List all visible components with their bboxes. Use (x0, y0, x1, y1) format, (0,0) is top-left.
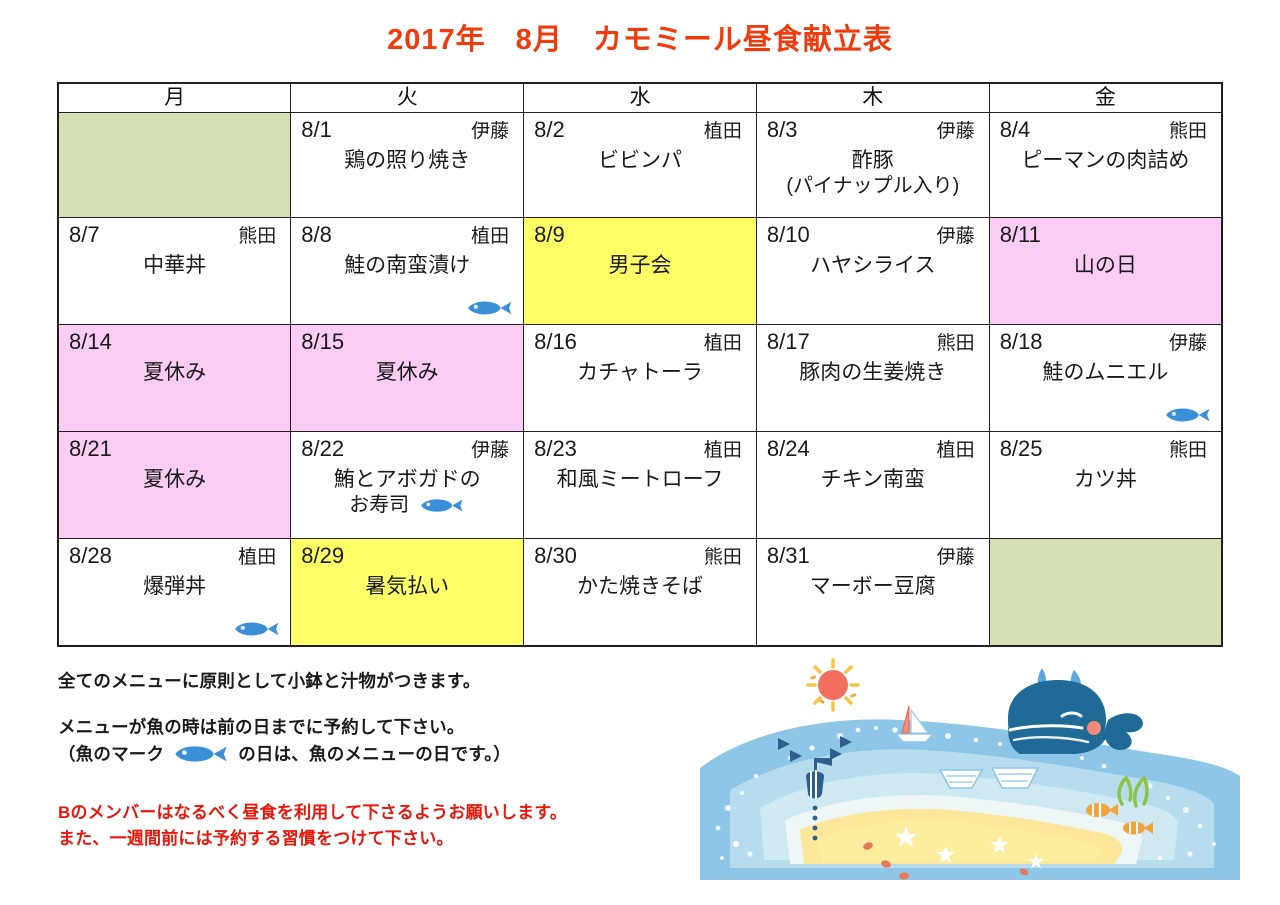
calendar-cell-content: 8/3伊藤酢豚(パイナップル入り) (757, 113, 989, 217)
fish-mark-icon (465, 298, 513, 318)
calendar-cell-header: 8/31伊藤 (767, 543, 979, 569)
calendar-cell-content: 8/30熊田かた焼きそば (524, 539, 756, 645)
calendar-cell-header: 8/30熊田 (534, 543, 746, 569)
calendar-cell-menu: 男子会 (534, 253, 746, 279)
calendar-cell-date: 8/23 (534, 436, 577, 462)
calendar-week-row: 8/1伊藤鶏の照り焼き8/2植田ビビンパ8/3伊藤酢豚(パイナップル入り)8/4… (58, 113, 1222, 218)
calendar-cell-header: 8/10伊藤 (767, 222, 979, 248)
fish-mark-icon (232, 619, 280, 639)
weekday-header-thu: 木 (756, 83, 989, 113)
calendar-cell-content: 8/22伊藤鮪とアボガドのお寿司 (291, 432, 523, 538)
calendar-cell-menu: 夏休み (69, 467, 280, 493)
calendar-cell-content: 8/2植田ビビンパ (524, 113, 756, 217)
calendar-cell[interactable]: 8/18伊藤鮭のムニエル (989, 325, 1222, 432)
calendar-cell[interactable]: 8/21夏休み (58, 432, 291, 539)
calendar-cell-menu: ハヤシライス (767, 253, 979, 279)
calendar-cell-menu: ピーマンの肉詰め (1000, 148, 1211, 174)
calendar-cell-content: 8/23植田和風ミートローフ (524, 432, 756, 538)
calendar-cell-content: 8/24植田チキン南蛮 (757, 432, 989, 538)
calendar-cell-content: 8/15夏休み (291, 325, 523, 431)
calendar-cell-date: 8/8 (301, 222, 332, 248)
sun-icon (808, 660, 858, 710)
calendar-cell-menu: 和風ミートローフ (534, 467, 746, 493)
calendar-cell-date: 8/9 (534, 222, 565, 248)
menu-calendar: 月 火 水 木 金 8/1伊藤鶏の照り焼き8/2植田ビビンパ8/3伊藤酢豚(パイ… (57, 82, 1223, 647)
fish-mark-icon (1163, 405, 1211, 425)
calendar-cell[interactable]: 8/15夏休み (291, 325, 524, 432)
calendar-cell-date: 8/31 (767, 543, 810, 569)
calendar-cell-staff: 熊田 (937, 333, 979, 355)
calendar-cell-date: 8/3 (767, 117, 798, 143)
calendar-cell-menu: 豚肉の生姜焼き (767, 360, 979, 386)
calendar-cell-content: 8/29暑気払い (291, 539, 523, 645)
calendar-cell[interactable]: 8/11山の日 (989, 218, 1222, 325)
weekday-header-wed: 水 (524, 83, 757, 113)
calendar-cell-date: 8/29 (301, 543, 344, 569)
calendar-table: 月 火 水 木 金 8/1伊藤鶏の照り焼き8/2植田ビビンパ8/3伊藤酢豚(パイ… (57, 82, 1223, 647)
calendar-cell[interactable]: 8/22伊藤鮪とアボガドのお寿司 (291, 432, 524, 539)
calendar-cell-header: 8/23植田 (534, 436, 746, 462)
calendar-cell-empty[interactable] (989, 539, 1222, 647)
calendar-body: 8/1伊藤鶏の照り焼き8/2植田ビビンパ8/3伊藤酢豚(パイナップル入り)8/4… (58, 113, 1222, 647)
calendar-cell-menu: チキン南蛮 (767, 467, 979, 493)
calendar-cell-content: 8/9男子会 (524, 218, 756, 324)
calendar-cell-empty[interactable] (58, 113, 291, 218)
calendar-cell-header: 8/28植田 (69, 543, 280, 569)
calendar-cell-content: 8/18伊藤鮭のムニエル (990, 325, 1221, 431)
calendar-cell-staff: 植田 (704, 121, 746, 143)
calendar-cell-menu-sub: (パイナップル入り) (767, 174, 979, 198)
calendar-cell-date: 8/28 (69, 543, 112, 569)
calendar-cell-header: 8/29 (301, 543, 513, 569)
note-red-line-1: Bのメンバーはなるべく昼食を利用して下さるようお願いします。 (58, 800, 698, 826)
calendar-cell-date: 8/22 (301, 436, 344, 462)
calendar-cell-header: 8/11 (1000, 222, 1211, 248)
calendar-cell-header: 8/14 (69, 329, 280, 355)
calendar-cell-staff: 植田 (238, 547, 280, 569)
calendar-cell-staff: 熊田 (238, 226, 280, 248)
calendar-cell[interactable]: 8/4熊田ピーマンの肉詰め (989, 113, 1222, 218)
calendar-cell[interactable]: 8/8植田鮭の南蛮漬け (291, 218, 524, 325)
note-red-line-2: また、一週間前には予約する習慣をつけて下さい。 (58, 826, 698, 852)
calendar-cell-staff: 伊藤 (471, 121, 513, 143)
fish-mark-icon (417, 496, 465, 516)
calendar-cell[interactable]: 8/2植田ビビンパ (524, 113, 757, 218)
calendar-cell[interactable]: 8/9男子会 (524, 218, 757, 325)
calendar-cell-menu: カツ丼 (1000, 467, 1211, 493)
calendar-cell-content: 8/10伊藤ハヤシライス (757, 218, 989, 324)
calendar-cell[interactable]: 8/30熊田かた焼きそば (524, 539, 757, 647)
weekday-header-tue: 火 (291, 83, 524, 113)
calendar-cell-content: 8/1伊藤鶏の照り焼き (291, 113, 523, 217)
calendar-cell-content: 8/14夏休み (59, 325, 290, 431)
calendar-cell-staff: 伊藤 (1169, 333, 1211, 355)
calendar-cell-menu: 酢豚 (767, 148, 979, 174)
calendar-cell-staff: 伊藤 (471, 440, 513, 462)
calendar-week-row: 8/28植田爆弾丼8/29暑気払い8/30熊田かた焼きそば8/31伊藤マーボー豆… (58, 539, 1222, 647)
calendar-cell-staff: 植田 (937, 440, 979, 462)
calendar-cell-date: 8/21 (69, 436, 112, 462)
calendar-cell[interactable]: 8/10伊藤ハヤシライス (756, 218, 989, 325)
calendar-cell-header: 8/9 (534, 222, 746, 248)
calendar-cell-content: 8/11山の日 (990, 218, 1221, 324)
calendar-cell-header: 8/17熊田 (767, 329, 979, 355)
calendar-cell-staff: 熊田 (1169, 121, 1211, 143)
calendar-week-row: 8/7熊田中華丼8/8植田鮭の南蛮漬け8/9男子会8/10伊藤ハヤシライス8/1… (58, 218, 1222, 325)
calendar-cell-header: 8/8植田 (301, 222, 513, 248)
calendar-cell-header: 8/3伊藤 (767, 117, 979, 143)
calendar-cell-staff: 伊藤 (937, 121, 979, 143)
note-red-block: Bのメンバーはなるべく昼食を利用して下さるようお願いします。 また、一週間前には… (58, 800, 698, 853)
calendar-cell-staff: 伊藤 (937, 226, 979, 248)
calendar-cell-date: 8/17 (767, 329, 810, 355)
calendar-cell-menu: 中華丼 (69, 253, 280, 279)
calendar-cell[interactable]: 8/25熊田カツ丼 (989, 432, 1222, 539)
calendar-cell-content: 8/21夏休み (59, 432, 290, 538)
calendar-cell-menu-sub-text: お寿司 (349, 494, 409, 516)
calendar-cell-date: 8/2 (534, 117, 565, 143)
calendar-cell-staff: 熊田 (1169, 440, 1211, 462)
calendar-cell-content: 8/31伊藤マーボー豆腐 (757, 539, 989, 645)
calendar-cell-menu: 鶏の照り焼き (301, 148, 513, 174)
calendar-cell[interactable]: 8/7熊田中華丼 (58, 218, 291, 325)
note-spacer (58, 694, 698, 714)
calendar-cell-header: 8/16植田 (534, 329, 746, 355)
calendar-cell-header: 8/22伊藤 (301, 436, 513, 462)
calendar-cell-header: 8/18伊藤 (1000, 329, 1211, 355)
calendar-cell-content: 8/8植田鮭の南蛮漬け (291, 218, 523, 324)
calendar-cell-content: 8/28植田爆弾丼 (59, 539, 290, 645)
calendar-cell-staff: 植田 (471, 226, 513, 248)
footer-notes: 全てのメニューに原則として小鉢と汁物がつきます。 メニューが魚の時は前の日までに… (58, 668, 698, 852)
calendar-cell-date: 8/4 (1000, 117, 1031, 143)
calendar-cell-staff: 伊藤 (937, 547, 979, 569)
calendar-cell-menu: 鮪とアボガドの (301, 467, 513, 493)
calendar-cell-date: 8/14 (69, 329, 112, 355)
calendar-week-row: 8/14夏休み8/15夏休み8/16植田カチャトーラ8/17熊田豚肉の生姜焼き8… (58, 325, 1222, 432)
calendar-cell-header: 8/7熊田 (69, 222, 280, 248)
calendar-header-row: 月 火 水 木 金 (58, 83, 1222, 113)
calendar-cell-date: 8/16 (534, 329, 577, 355)
note-line-3-prefix: （魚のマーク (58, 741, 164, 767)
calendar-cell-date: 8/11 (1000, 222, 1041, 248)
calendar-cell-menu: かた焼きそば (534, 574, 746, 600)
calendar-cell-menu: マーボー豆腐 (767, 574, 979, 600)
calendar-cell-date: 8/1 (301, 117, 332, 143)
calendar-cell-menu: 夏休み (301, 360, 513, 386)
calendar-cell-menu: 鮭のムニエル (1000, 360, 1211, 386)
whale-icon (1008, 668, 1143, 754)
page-title: 2017年 8月 カモミール昼食献立表 (0, 0, 1280, 55)
fish-mark-icon (170, 743, 232, 765)
calendar-cell-menu-sub: お寿司 (301, 493, 513, 517)
calendar-cell-content: 8/16植田カチャトーラ (524, 325, 756, 431)
weekday-header-fri: 金 (989, 83, 1222, 113)
calendar-cell-menu: 山の日 (1000, 253, 1211, 279)
calendar-week-row: 8/21夏休み8/22伊藤鮪とアボガドのお寿司8/23植田和風ミートローフ8/2… (58, 432, 1222, 539)
calendar-cell-menu: カチャトーラ (534, 360, 746, 386)
calendar-cell-date: 8/15 (301, 329, 344, 355)
calendar-cell[interactable]: 8/1伊藤鶏の照り焼き (291, 113, 524, 218)
calendar-cell-staff: 熊田 (704, 547, 746, 569)
note-line-1: 全てのメニューに原則として小鉢と汁物がつきます。 (58, 668, 698, 694)
calendar-cell-menu: 暑気払い (301, 574, 513, 600)
calendar-cell-menu: 鮭の南蛮漬け (301, 253, 513, 279)
calendar-cell-date: 8/10 (767, 222, 810, 248)
calendar-cell-staff: 植田 (704, 333, 746, 355)
calendar-cell-header: 8/4熊田 (1000, 117, 1211, 143)
calendar-cell-date: 8/30 (534, 543, 577, 569)
calendar-cell[interactable]: 8/14夏休み (58, 325, 291, 432)
calendar-cell-header: 8/1伊藤 (301, 117, 513, 143)
calendar-cell-header: 8/21 (69, 436, 280, 462)
weekday-header-mon: 月 (58, 83, 291, 113)
calendar-cell-header: 8/24植田 (767, 436, 979, 462)
calendar-cell-staff: 植田 (704, 440, 746, 462)
calendar-cell[interactable]: 8/23植田和風ミートローフ (524, 432, 757, 539)
calendar-cell-date: 8/18 (1000, 329, 1043, 355)
calendar-cell-content: 8/7熊田中華丼 (59, 218, 290, 324)
calendar-cell-menu: 夏休み (69, 360, 280, 386)
calendar-cell-header: 8/15 (301, 329, 513, 355)
calendar-cell-content: 8/17熊田豚肉の生姜焼き (757, 325, 989, 431)
calendar-cell-content: 8/4熊田ピーマンの肉詰め (990, 113, 1221, 217)
calendar-cell-content: 8/25熊田カツ丼 (990, 432, 1221, 538)
note-line-3-suffix: の日は、魚のメニューの日です。） (238, 741, 511, 767)
calendar-cell[interactable]: 8/24植田チキン南蛮 (756, 432, 989, 539)
calendar-cell[interactable]: 8/28植田爆弾丼 (58, 539, 291, 647)
calendar-cell-date: 8/7 (69, 222, 100, 248)
calendar-cell[interactable]: 8/29暑気払い (291, 539, 524, 647)
calendar-cell-date: 8/25 (1000, 436, 1043, 462)
calendar-cell[interactable]: 8/16植田カチャトーラ (524, 325, 757, 432)
note-line-3: （魚のマーク の日は、魚のメニューの日です。） (58, 741, 698, 767)
calendar-cell-menu: 爆弾丼 (69, 574, 280, 600)
calendar-cell-menu: ビビンパ (534, 148, 746, 174)
note-line-2: メニューが魚の時は前の日までに予約して下さい。 (58, 714, 698, 740)
calendar-cell[interactable]: 8/3伊藤酢豚(パイナップル入り) (756, 113, 989, 218)
calendar-cell[interactable]: 8/31伊藤マーボー豆腐 (756, 539, 989, 647)
calendar-cell-header: 8/2植田 (534, 117, 746, 143)
calendar-cell-header: 8/25熊田 (1000, 436, 1211, 462)
calendar-cell-date: 8/24 (767, 436, 810, 462)
summer-beach-illustration (690, 658, 1250, 898)
calendar-cell[interactable]: 8/17熊田豚肉の生姜焼き (756, 325, 989, 432)
